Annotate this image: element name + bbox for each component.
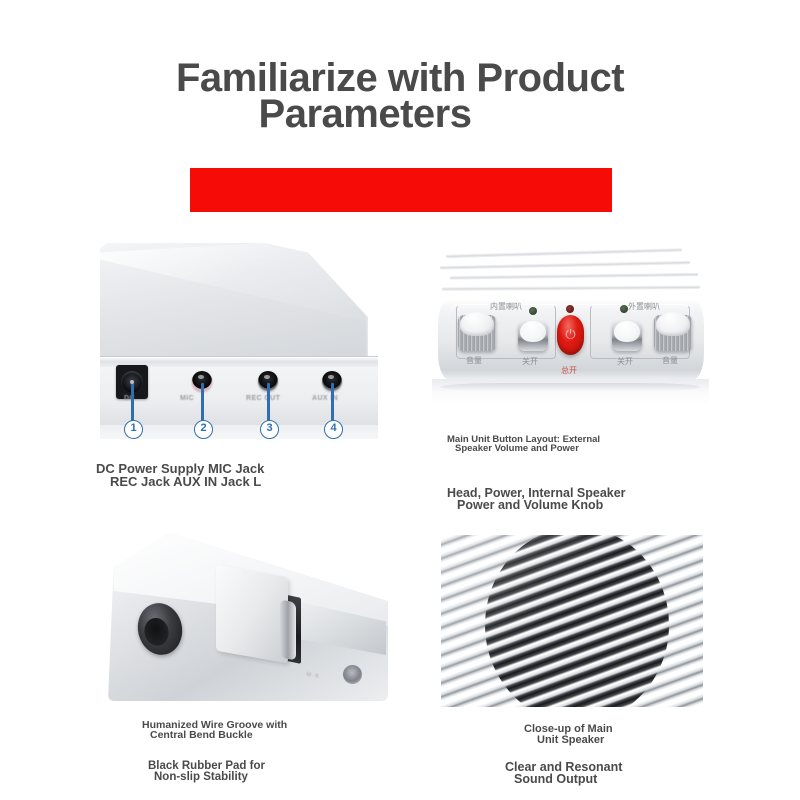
internal-speaker-volume-knob[interactable] — [654, 315, 692, 351]
port-label-rec-out: REC OUT — [246, 395, 280, 402]
rear-jack-panel-photo: DC MIC REC OUT AUX IN 1 2 3 4 — [100, 243, 378, 439]
central-bend-buckle — [280, 599, 296, 660]
power-status-led — [566, 305, 574, 313]
main-power-button[interactable]: ⏻ — [557, 315, 584, 355]
port-label-aux-in: AUX IN — [312, 395, 338, 402]
grille-rib — [442, 285, 700, 291]
left-status-led — [529, 307, 537, 315]
speaker-grille-slats — [441, 535, 703, 707]
callout-number-4: 4 — [324, 420, 343, 439]
speaker-caption-top-line-2: Unit Speaker — [537, 734, 613, 747]
internal-speaker-group-label: 内置喇叭 — [490, 301, 522, 312]
callout-line-1 — [131, 383, 134, 423]
control-panel-caption-small-line-2: Speaker Volume and Power — [455, 443, 600, 454]
callout-line-2 — [201, 383, 204, 423]
grille-rib — [450, 272, 698, 279]
external-volume-knob-label: 音量 — [466, 355, 482, 366]
highlight-banner-text: More Convenient to Use — [0, 6, 422, 55]
external-speaker-group-label: 外置喇叭 — [628, 301, 660, 312]
wire-groove-caption-top: Humanized Wire Groove with Central Bend … — [142, 719, 287, 741]
control-panel-caption-large: Head, Power, Internal Speaker Power and … — [447, 486, 626, 512]
external-speaker-power-button[interactable] — [518, 321, 548, 351]
callout-number-3: 3 — [260, 420, 279, 439]
main-unit-control-panel-photo: 内置喇叭 外置喇叭 ⏻ 音量 关开 总开 关开 音量 — [432, 243, 709, 429]
speaker-caption-bottom: Clear and Resonant Sound Output — [505, 760, 622, 786]
speaker-caption-bottom-line-2: Sound Output — [514, 772, 622, 786]
power-icon: ⏻ — [565, 329, 575, 342]
wire-groove-caption-bottom: Black Rubber Pad for Non-slip Stability — [148, 760, 265, 784]
jack-highlight — [328, 375, 334, 379]
wire-groove-cover — [216, 565, 288, 664]
grille-rib — [440, 260, 690, 269]
main-power-button-label: 总开 — [561, 365, 577, 376]
speaker-caption-top: Close-up of Main Unit Speaker — [524, 723, 613, 747]
control-panel-caption-small: Main Unit Button Layout: External Speake… — [447, 434, 600, 454]
highlight-banner — [190, 168, 612, 212]
jack-panel-caption-line-2: REC Jack AUX IN Jack L — [110, 474, 264, 489]
jack-highlight — [198, 375, 204, 379]
port-label-mic: MIC — [180, 395, 194, 402]
internal-volume-knob-label: 音量 — [662, 355, 678, 366]
external-power-button-label: 关开 — [522, 356, 538, 367]
right-status-led — [620, 305, 628, 313]
wire-groove-and-rubber-pad-photo: M·K — [100, 523, 390, 711]
page-title-line-2: Parameters — [0, 94, 800, 134]
page-title: Familiarize with Product Parameters — [0, 58, 800, 134]
jack-panel-caption: DC Power Supply MIC Jack REC Jack AUX IN… — [96, 461, 264, 489]
internal-speaker-power-button[interactable] — [612, 321, 642, 351]
callout-number-2: 2 — [194, 420, 213, 439]
grille-rib — [446, 248, 682, 259]
panel-base-shadow — [432, 379, 709, 425]
callout-line-3 — [267, 383, 270, 423]
speaker-grille-closeup-photo — [434, 531, 710, 709]
jack-highlight — [264, 375, 270, 379]
internal-power-button-label: 关开 — [617, 356, 633, 367]
callout-line-4 — [331, 383, 334, 423]
grille-light-shade — [441, 535, 703, 707]
external-speaker-volume-knob[interactable] — [458, 315, 496, 351]
control-panel-caption-large-line-2: Power and Volume Knob — [457, 498, 626, 512]
infographic-page: Familiarize with Product Parameters More… — [0, 0, 800, 800]
top-grille-ribs — [440, 247, 702, 305]
callout-number-1: 1 — [124, 420, 143, 439]
